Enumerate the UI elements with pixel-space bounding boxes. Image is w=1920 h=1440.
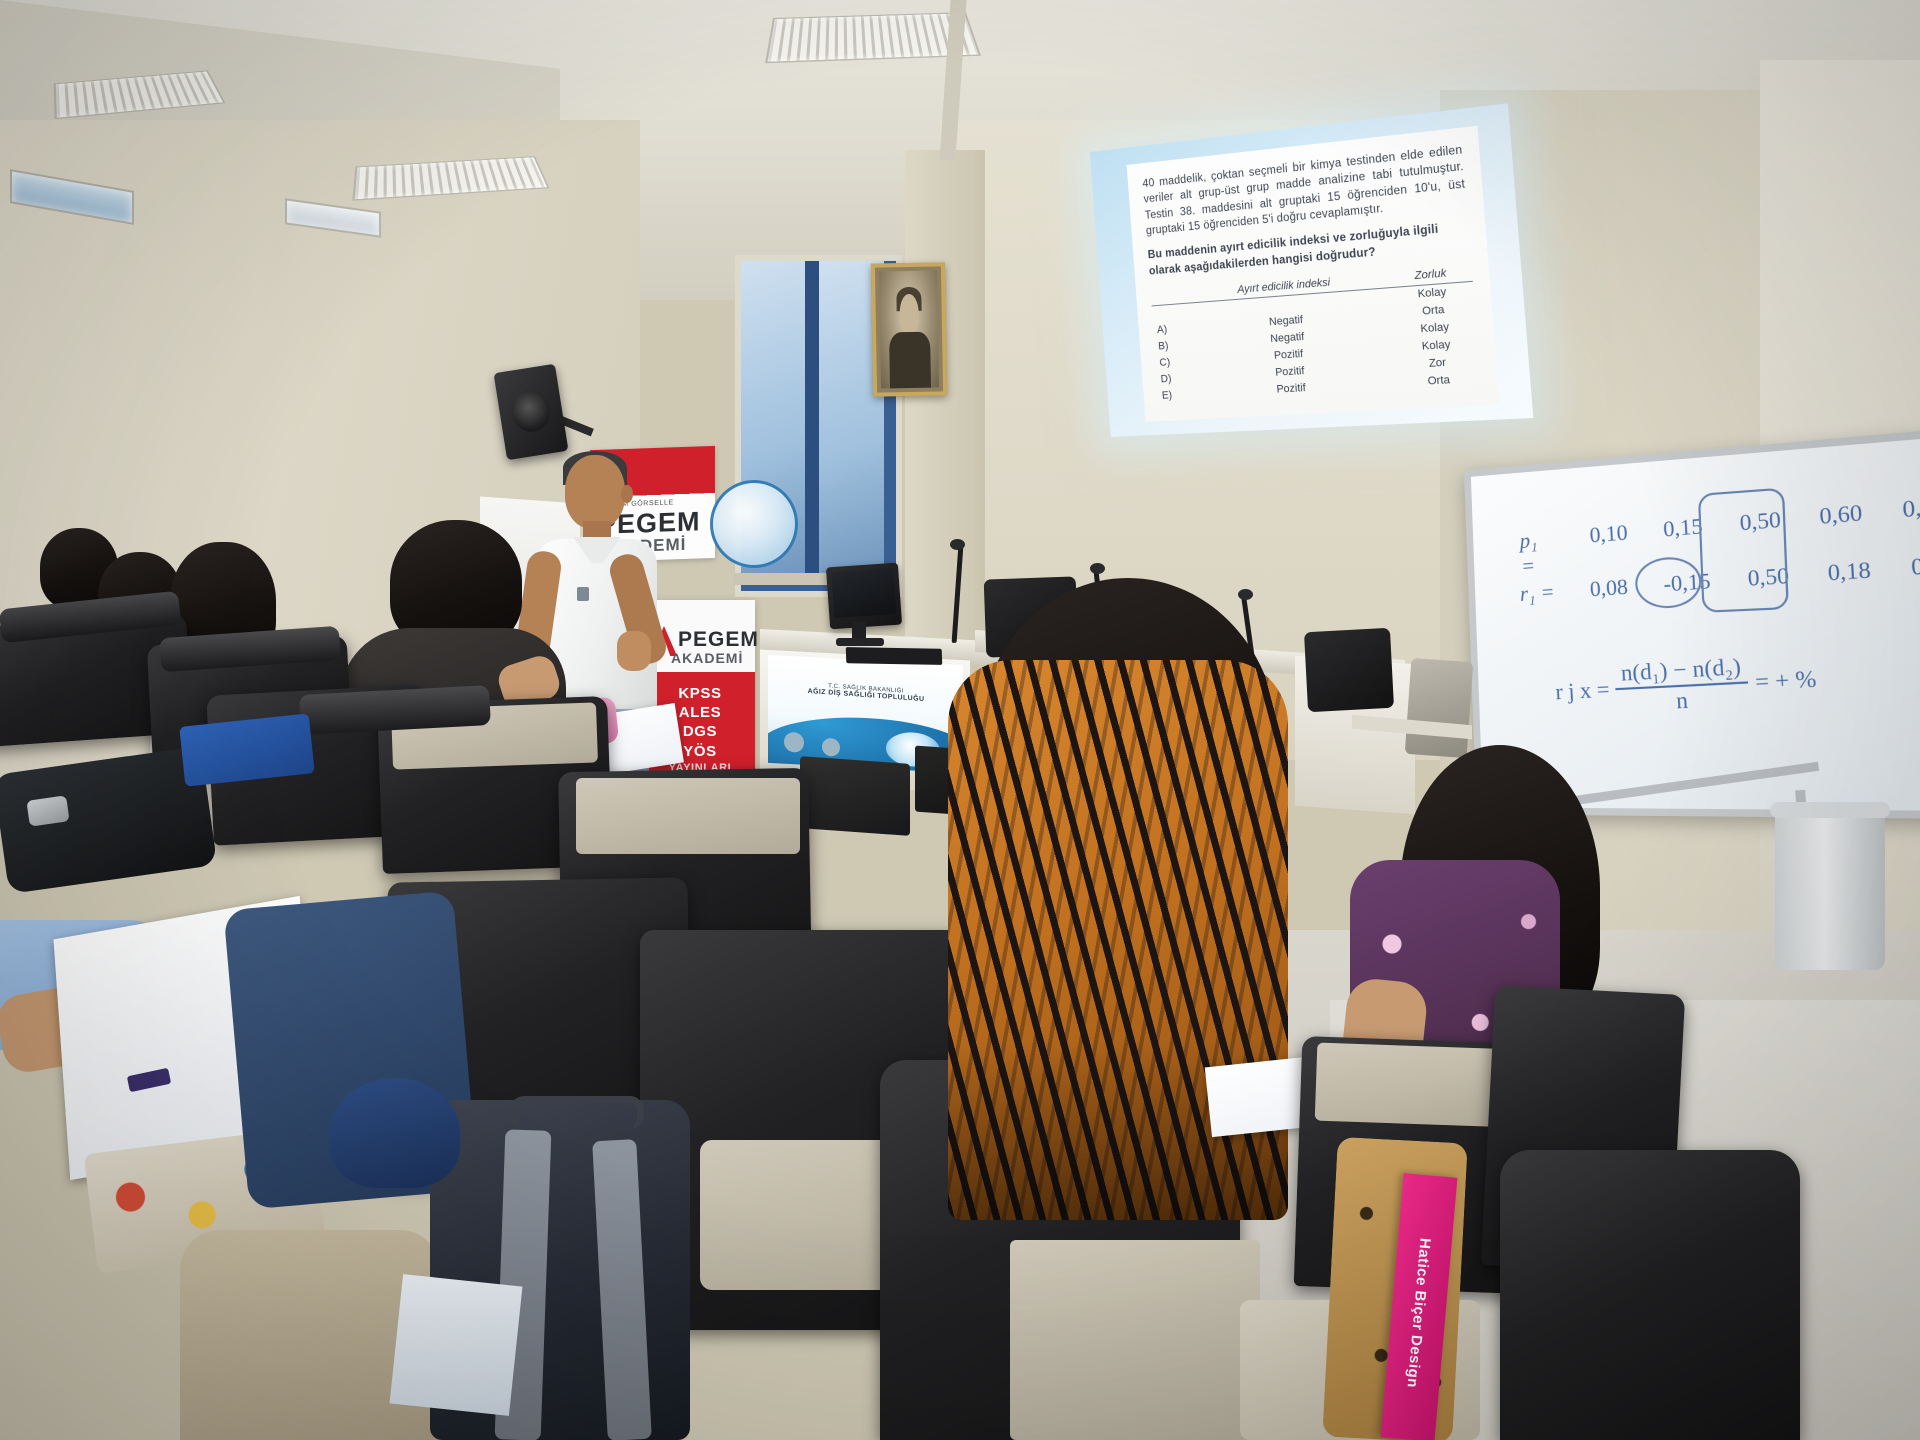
formula-denominator: n — [1675, 687, 1689, 715]
speaker-cone — [509, 387, 553, 434]
cpu-tower — [800, 756, 910, 836]
poster-text: T.C. SAĞLIK BAKANLIĞI AĞIZ DİŞ SAĞLIĞI T… — [786, 680, 946, 704]
banner-bottom-brand: PEGEM — [678, 628, 759, 652]
wb-row1-v4: 0,90 — [1902, 492, 1920, 552]
seat-pad-right-1 — [1315, 1043, 1518, 1128]
seat-foreground-right — [1500, 1150, 1800, 1440]
monitor-base — [836, 638, 884, 646]
classroom-photo: Atatürk portresi 40 maddelik, çoktan seç… — [0, 0, 1920, 1440]
projected-slide: 40 maddelik, çoktan seçmeli bir kimya te… — [1127, 126, 1500, 422]
formula-result: = + % — [1754, 664, 1817, 695]
desktop-monitor[interactable] — [826, 563, 902, 630]
whiteboard-formula: r j x = n(d₁) − n(d₂) n = + % — [1554, 648, 1819, 719]
formula-lhs: r j x = — [1555, 675, 1611, 705]
opt-difficulty: Orta — [1397, 370, 1481, 392]
blue-cap — [330, 1078, 460, 1188]
seat-pad-row5-front — [1010, 1240, 1260, 1440]
portrait-body — [889, 331, 931, 388]
opt-letter: B) — [1154, 337, 1186, 356]
portrait-face — [899, 294, 919, 334]
backpack-handle — [510, 1096, 644, 1129]
window-mullion — [805, 261, 819, 579]
microphone-3-head — [1238, 589, 1253, 600]
formula-numerator: n(d₁) − n(d₂) — [1614, 652, 1749, 690]
monitor-screen — [831, 568, 896, 618]
whiteboard-highlight-box — [1698, 487, 1789, 612]
instructor-ear — [621, 485, 633, 503]
projection-area: 40 maddelik, çoktan seçmeli bir kimya te… — [1090, 103, 1534, 437]
wb-row2-v4: 0,53 — [1910, 550, 1920, 581]
keyboard[interactable] — [846, 647, 942, 665]
opt-letter: E) — [1158, 387, 1190, 405]
opt-letter: C) — [1155, 353, 1187, 371]
slide-options-table: Ayırt edicilik indeksi Zorluk Kolay A) N… — [1150, 263, 1481, 405]
umbrella-brand-text: Hatice Biçer Design — [1404, 1237, 1434, 1388]
office-chair-2 — [1304, 628, 1394, 712]
white-paper-sheet — [390, 1274, 523, 1416]
secondary-logo — [710, 480, 798, 568]
microphone-2-head — [1090, 563, 1105, 574]
wb-row1-v3: 0,60 — [1819, 499, 1865, 557]
instructor-hand — [617, 631, 651, 671]
wb-row2-label: r₁ = — [1519, 579, 1556, 607]
microphone-1-head — [950, 539, 965, 550]
ataturk-portrait — [871, 262, 947, 396]
poster-dot-2 — [822, 738, 840, 757]
instructor-shirt-logo — [577, 587, 589, 601]
opt-letter: D) — [1157, 370, 1189, 388]
trash-bin-lid — [1770, 802, 1890, 818]
trash-bin — [1775, 810, 1885, 970]
instructor-head — [565, 455, 625, 529]
whiteboard-writing: p₁ = 0,10 0,15 0,50 0,60 0,90 r₁ = 0,08 … — [1471, 439, 1920, 811]
poster-dot-1 — [784, 732, 804, 753]
wb-row2-v3: 0,18 — [1827, 556, 1872, 587]
wb-row2-v0: 0,08 — [1589, 574, 1628, 603]
seat-pad-row3-a — [576, 778, 800, 854]
wb-row1-v0: 0,10 — [1589, 520, 1630, 575]
wb-row1-label: p₁ = — [1519, 526, 1557, 580]
handbag-buckle — [26, 795, 69, 826]
banner-bottom-subbrand: AKADEMİ — [671, 650, 743, 666]
whiteboard-area: p₁ = 0,10 0,15 0,50 0,60 0,90 r₁ = 0,08 … — [1464, 432, 1920, 803]
stacked-chair — [1405, 658, 1474, 758]
